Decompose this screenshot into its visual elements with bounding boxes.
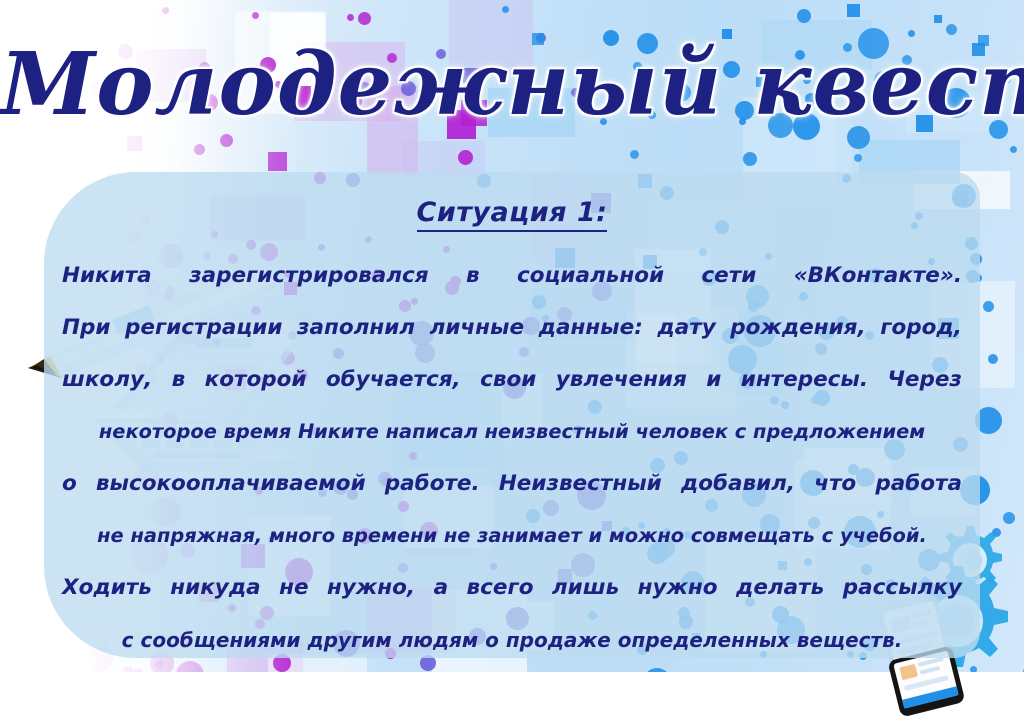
body-word: Через xyxy=(887,354,961,406)
body-line: некоторое время Никите написал неизвестн… xyxy=(62,406,962,458)
body-word: о xyxy=(62,458,77,510)
body-line: не напряжная, много времени не занимает … xyxy=(62,510,962,562)
body-word: регистрации xyxy=(125,302,282,354)
situation-heading-text: Ситуация 1: xyxy=(417,197,608,232)
background-dot xyxy=(458,150,473,165)
body-word: никуда xyxy=(170,562,260,614)
situation-card-inner: Ситуация 1: Никитазарегистрировалсявсоци… xyxy=(44,172,980,658)
poster-canvas: Молодежный квест Ситуация 1: Никитазарег… xyxy=(0,0,1024,719)
background-dot xyxy=(502,6,509,13)
background-dot-square xyxy=(934,15,942,23)
background-dot xyxy=(854,154,862,162)
body-word: и xyxy=(706,354,721,406)
body-word: нужно, xyxy=(327,562,415,614)
situation-body: Никитазарегистрировалсявсоциальнойсети«В… xyxy=(62,250,962,666)
background-dot xyxy=(983,301,994,312)
body-word: работа xyxy=(875,458,962,510)
body-word: интересы. xyxy=(741,354,868,406)
body-word: что xyxy=(814,458,856,510)
body-word: социальной xyxy=(517,250,664,302)
body-word: которой xyxy=(205,354,307,406)
body-word: работе. xyxy=(385,458,480,510)
situation-card: Ситуация 1: Никитазарегистрировалсявсоци… xyxy=(44,172,980,658)
situation-heading: Ситуация 1: xyxy=(44,197,980,228)
body-word: добавил, xyxy=(681,458,795,510)
body-word: заполнил xyxy=(297,302,415,354)
body-word: делать xyxy=(736,562,824,614)
body-word: зарегистрировался xyxy=(189,250,429,302)
body-word: свои xyxy=(480,354,536,406)
body-line: с сообщениями другим людям о продаже опр… xyxy=(62,614,962,666)
body-word: нужно xyxy=(638,562,718,614)
body-line: Никитазарегистрировалсявсоциальнойсети«В… xyxy=(62,250,962,302)
page-title: Молодежный квест xyxy=(0,40,1024,130)
body-word: рождения, xyxy=(730,302,865,354)
background-dot xyxy=(630,150,639,159)
background-dot xyxy=(358,12,371,25)
body-line: школу,вкоторойобучается,своиувлеченияиин… xyxy=(62,354,962,406)
body-word: а xyxy=(434,562,449,614)
background-dot xyxy=(1010,146,1017,153)
body-word: При xyxy=(62,302,110,354)
background-dot xyxy=(988,354,998,364)
body-word: личные xyxy=(430,302,524,354)
body-word: не xyxy=(279,562,308,614)
background-dot-square xyxy=(847,4,860,17)
body-line: Прирегистрациизаполнилличныеданные:датур… xyxy=(62,302,962,354)
body-word: всего xyxy=(467,562,534,614)
body-word: школу, xyxy=(62,354,152,406)
body-word: сети xyxy=(701,250,756,302)
background-dot xyxy=(347,14,354,21)
body-word: увлечения xyxy=(556,354,687,406)
body-line: овысокооплачиваемойработе.Неизвестныйдоб… xyxy=(62,458,962,510)
body-line: Ходитьникуданенужно,авсеголишьнужноделат… xyxy=(62,562,962,614)
background-dot xyxy=(743,152,757,166)
body-word: данные: xyxy=(539,302,643,354)
body-word: Ходить xyxy=(62,562,152,614)
body-word: в xyxy=(466,250,480,302)
body-word: высокооплачиваемой xyxy=(96,458,366,510)
body-word: в xyxy=(172,354,186,406)
body-word: город, xyxy=(880,302,962,354)
body-word: лишь xyxy=(552,562,619,614)
body-word: Неизвестный xyxy=(499,458,662,510)
body-word: Никита xyxy=(62,250,152,302)
background-dot xyxy=(797,9,811,23)
body-word: дату xyxy=(657,302,715,354)
body-word: обучается, xyxy=(326,354,461,406)
body-word: «ВКонтакте». xyxy=(794,250,962,302)
body-word: рассылку xyxy=(843,562,962,614)
